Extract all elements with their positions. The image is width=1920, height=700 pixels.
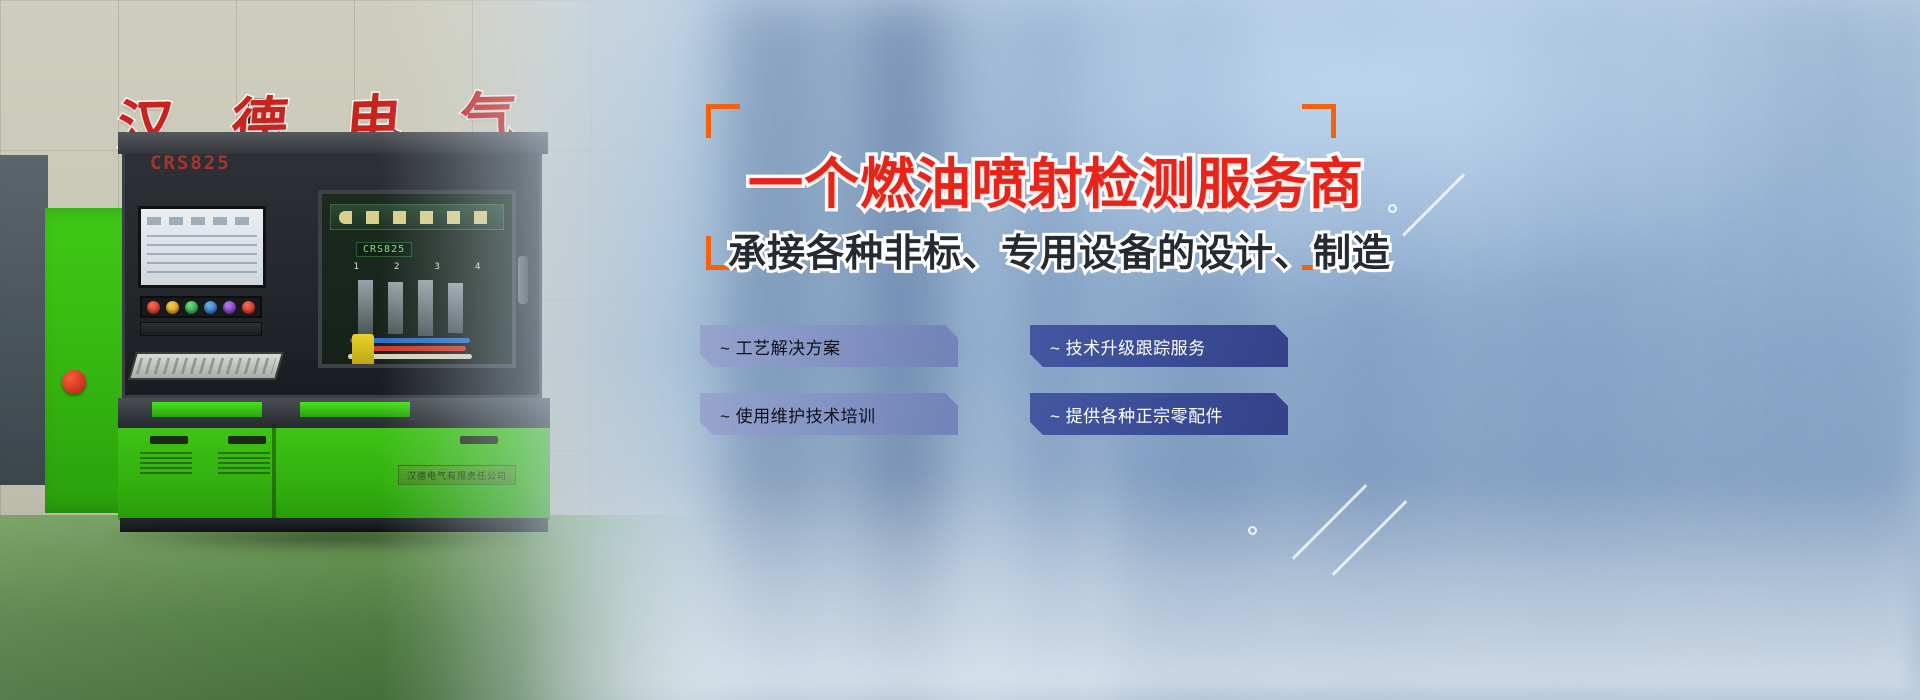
equipment-photo: 汉 德 电 气 CRS825 CRS825 1 2 — [0, 0, 760, 700]
photo-fade-overlay — [0, 0, 760, 700]
feature-tag-label: ~ 技术升级跟踪服务 — [1050, 334, 1206, 359]
feature-tag-label: ~ 提供各种正宗零配件 — [1050, 402, 1223, 427]
banner-headline: 一个燃油喷射检测服务商 — [748, 139, 1364, 219]
feature-tag-genuine-parts[interactable]: ~ 提供各种正宗零配件 — [1030, 393, 1288, 435]
decor-ring — [1248, 526, 1257, 535]
corner-bracket-top-left — [706, 104, 740, 138]
hero-banner: 汉 德 电 气 CRS825 CRS825 1 2 — [0, 0, 1920, 700]
corner-bracket-top-right — [1302, 104, 1336, 138]
feature-tag-label: ~ 工艺解决方案 — [720, 334, 841, 359]
banner-subheadline: 承接各种非标、专用设备的设计、制造 — [728, 222, 1391, 277]
feature-tag-label: ~ 使用维护技术培训 — [720, 402, 876, 427]
feature-tag-upgrade-service[interactable]: ~ 技术升级跟踪服务 — [1030, 325, 1288, 367]
feature-tag-list: ~ 工艺解决方案 ~ 技术升级跟踪服务 ~ 使用维护技术培训 ~ 提供各种正宗零… — [700, 325, 1300, 435]
feature-tag-maintenance-training[interactable]: ~ 使用维护技术培训 — [700, 393, 958, 435]
decor-ring — [1388, 204, 1397, 213]
feature-tag-process-solution[interactable]: ~ 工艺解决方案 — [700, 325, 958, 367]
